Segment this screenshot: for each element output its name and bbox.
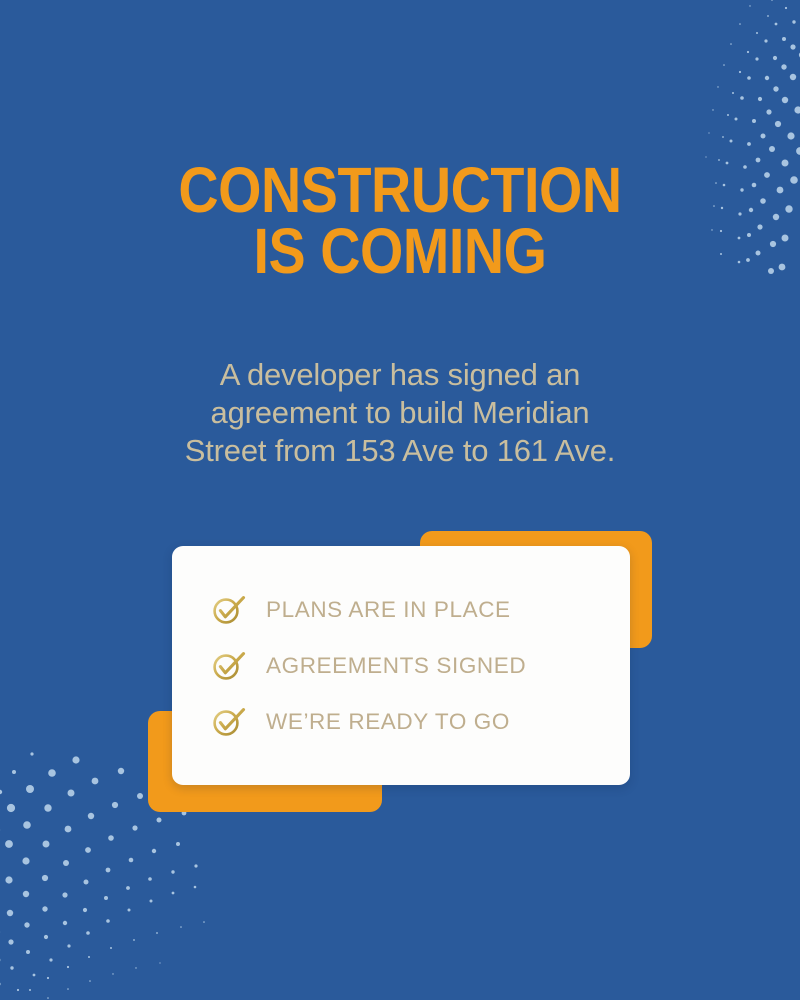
checklist: PLANS ARE IN PLACE [212,582,610,750]
check-circle-icon [212,651,246,681]
list-item-label: PLANS ARE IN PLACE [266,597,511,623]
list-item: PLANS ARE IN PLACE [212,582,610,638]
list-item-label: WE’RE READY TO GO [266,709,510,735]
checklist-card-cluster: PLANS ARE IN PLACE [0,0,800,1000]
check-circle-icon [212,707,246,737]
poster-canvas: CONSTRUCTION IS COMING A developer has s… [0,0,800,1000]
check-circle-icon [212,595,246,625]
checklist-card: PLANS ARE IN PLACE [172,546,630,785]
list-item-label: AGREEMENTS SIGNED [266,653,526,679]
list-item: WE’RE READY TO GO [212,694,610,750]
list-item: AGREEMENTS SIGNED [212,638,610,694]
